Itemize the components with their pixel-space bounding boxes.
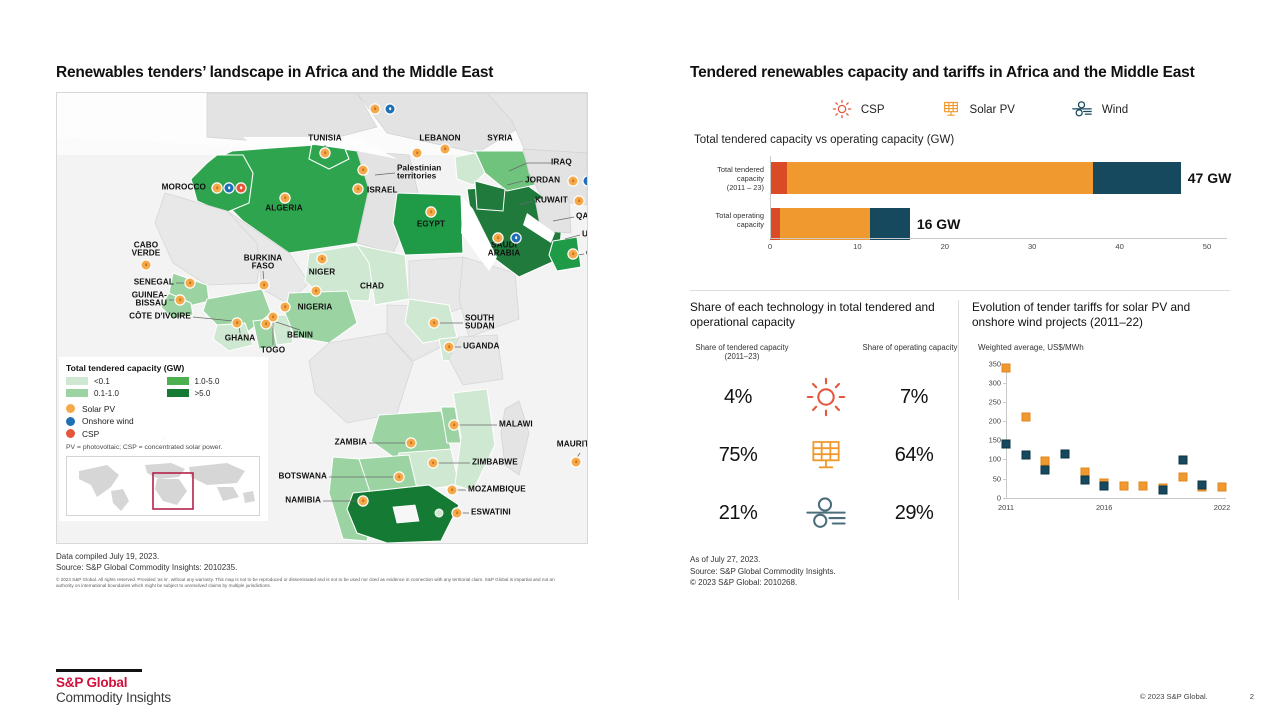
scatter-point-onshore-wind[interactable] [1060, 449, 1069, 458]
solar-pv-pin[interactable] [176, 295, 185, 304]
bar-segment-solar-pv[interactable] [780, 208, 870, 240]
onshore-wind-pin[interactable] [225, 183, 234, 192]
scatter-point-onshore-wind[interactable] [1080, 476, 1089, 485]
legend-marker-list: Solar PVOnshore windCSP [66, 404, 261, 439]
country-label-guinea-bissau: GUINEA- BISSAU [132, 291, 167, 308]
tariff-scatter-block: Evolution of tender tariffs for solar PV… [972, 300, 1230, 526]
country-label-niger: NIGER [309, 268, 335, 277]
country-label-israel: ISRAEL [367, 186, 398, 195]
legend-bin-0.1-1.0: 0.1-1.0 [66, 389, 161, 398]
country-label-togo: TOGO [261, 346, 285, 355]
country-label-mozambique: MOZAMBIQUE [468, 485, 526, 494]
scatter-subtitle: Weighted average, US$/MWh [978, 343, 1230, 352]
country-label-qatar: QATAR [576, 212, 588, 221]
scatter-point-onshore-wind[interactable] [1198, 481, 1207, 490]
legend-marker-wind: Onshore wind [66, 416, 261, 426]
solar-pv-pin[interactable] [260, 280, 269, 289]
solar-pv-pin[interactable] [142, 260, 151, 269]
solar-pv-pin[interactable] [430, 318, 439, 327]
technology-legend: CSP Solar PV Win [730, 99, 1230, 122]
share-operating-solar-pv: 64% [866, 444, 962, 467]
solar-pv-pin[interactable] [233, 318, 242, 327]
scatter-point-onshore-wind[interactable] [1178, 456, 1187, 465]
country-label-malawi: MALAWI [499, 420, 533, 429]
legend-item-csp[interactable]: CSP [832, 99, 885, 122]
legend-capacity-bins: <0.11.0-5.00.1-1.0>5.0 [66, 377, 261, 398]
solar-pv-pin[interactable] [427, 207, 436, 216]
legend-swatch [167, 389, 189, 397]
scatter-y-tick-150: 150 [989, 436, 1001, 445]
charts-panel-title: Tendered renewables capacity and tariffs… [690, 64, 1230, 83]
csp-pin[interactable] [237, 183, 246, 192]
scatter-point-solar-pv[interactable] [1002, 364, 1011, 373]
bar-x-axis [770, 238, 1227, 239]
map-panel: Renewables tenders’ landscape in Africa … [56, 64, 588, 589]
map-panel-title: Renewables tenders’ landscape in Africa … [56, 64, 588, 83]
solar-pv-pin[interactable] [359, 496, 368, 505]
solar-pv-pin[interactable] [318, 254, 327, 263]
map-source-block: Data compiled July 19, 2023. Source: S&P… [56, 551, 588, 590]
solar-pv-pin[interactable] [186, 278, 195, 287]
scatter-y-tickmark [1003, 402, 1006, 403]
map-disclaimer: © 2023 S&P Global. All rights reserved. … [56, 577, 556, 589]
charts-source-block: As of July 27, 2023. Source: S&P Global … [690, 554, 836, 589]
scatter-point-onshore-wind[interactable] [1021, 450, 1030, 459]
inset-world-svg [67, 457, 257, 513]
solar-pv-pin[interactable] [262, 319, 271, 328]
legend-bin--0.1: <0.1 [66, 377, 161, 386]
country-label-algeria: ALGERIA [265, 204, 303, 213]
bar-x-tick-20: 20 [941, 242, 949, 251]
solar-pv-pin[interactable] [494, 233, 503, 242]
solar-pv-pin[interactable] [371, 104, 380, 113]
charts-asof: As of July 27, 2023. [690, 554, 836, 566]
solar-pv-pin[interactable] [569, 249, 578, 258]
solar-pv-pin[interactable] [312, 286, 321, 295]
scatter-point-solar-pv[interactable] [1139, 482, 1148, 491]
legend-label-wind: Wind [1102, 104, 1128, 116]
country-label-uganda: UGANDA [463, 342, 500, 351]
scatter-title: Evolution of tender tariffs for solar PV… [972, 300, 1230, 331]
country-label-zambia: ZAMBIA [335, 438, 367, 447]
legend-bin-1.0-5.0: 1.0-5.0 [167, 377, 262, 386]
scatter-point-solar-pv[interactable] [1218, 483, 1227, 492]
country-label-oman: OMAN [586, 249, 588, 258]
legend-label-solar-pv: Solar PV [970, 104, 1015, 116]
page-number: 2 [1250, 692, 1254, 701]
scatter-point-onshore-wind[interactable] [1002, 439, 1011, 448]
country-label-jordan: JORDAN [525, 176, 560, 185]
share-operating-wind: 29% [866, 502, 962, 525]
legend-title: Total tendered capacity (GW) [66, 363, 261, 373]
share-column-heads: Share of tendered capacity (2011–23) Sha… [694, 343, 958, 362]
solar-pv-pin[interactable] [321, 148, 330, 157]
solar-pv-pin[interactable] [407, 438, 416, 447]
share-tendered-csp: 4% [690, 386, 786, 409]
legend-bin-label: >5.0 [195, 389, 211, 398]
bar-x-tick-30: 30 [1028, 242, 1036, 251]
share-tendered-wind: 21% [690, 502, 786, 525]
scatter-x-tick-2022: 2022 [1214, 503, 1230, 512]
country-label-c-te-d-ivoire: CÔTE D'IVOIRE [129, 312, 191, 321]
share-operating-csp: 7% [866, 386, 962, 409]
bar-category-line: Total tendered [692, 165, 764, 174]
share-tendered-solar-pv: 75% [690, 444, 786, 467]
country-label-nigeria: NIGERIA [298, 303, 333, 312]
scatter-y-tick-200: 200 [989, 417, 1001, 426]
solar-pv-pin[interactable] [213, 183, 222, 192]
section-divider [690, 290, 1230, 291]
csp-sun-icon [832, 99, 852, 122]
solar-pv-pin[interactable] [445, 342, 454, 351]
bar-x-tick-40: 40 [1115, 242, 1123, 251]
scatter-point-solar-pv[interactable] [1041, 456, 1050, 465]
charts-copyright: © 2023 S&P Global: 2010268. [690, 577, 836, 589]
country-label-palestinian-territories: Palestinian territories [397, 164, 441, 181]
solar-panel-icon [941, 99, 961, 122]
country-label-kuwait: KUWAIT [535, 196, 568, 205]
legend-marker-label: Solar PV [82, 404, 115, 414]
logo-commodity-insights: Commodity Insights [56, 690, 171, 706]
solar-pv-pin[interactable] [395, 472, 404, 481]
bar-x-tick-0: 0 [768, 242, 772, 251]
onshore-wind-pin[interactable] [512, 233, 521, 242]
scatter-point-onshore-wind[interactable] [1159, 485, 1168, 494]
country-label-lebanon: LEBANON [419, 134, 460, 143]
country-label-uae: UAE [582, 230, 588, 239]
onshore-wind-pin [66, 417, 75, 426]
africa-middle-east-map[interactable]: TUNISIALEBANONSYRIAIRAQMOROCCOPalestinia… [56, 92, 588, 544]
legend-bin-label: 0.1-1.0 [94, 389, 119, 398]
share-head-operating: Share of operating capacity [862, 343, 958, 362]
legend-marker-pv: Solar PV [66, 404, 261, 414]
share-head-tendered: Share of tendered capacity (2011–23) [694, 343, 790, 362]
csp-pin [66, 429, 75, 438]
bar-y-axis [770, 156, 771, 238]
solar-pv-pin[interactable] [281, 302, 290, 311]
capacity-bar-chart[interactable]: Total tenderedcapacity(2011 – 23)47 GWTo… [690, 152, 1230, 262]
charts-source-line: Source: S&P Global Commodity Insights. [690, 566, 836, 578]
bar-segment-solar-pv[interactable] [787, 162, 1094, 194]
world-inset-map [66, 456, 260, 516]
logo-sp-global: S&P Global [56, 675, 171, 691]
sp-global-logo: S&P Global Commodity Insights [56, 669, 171, 706]
country-label-chad: CHAD [360, 282, 384, 291]
legend-marker-label: CSP [82, 429, 99, 439]
scatter-y-axis [1006, 364, 1007, 498]
legend-bin--5.0: >5.0 [167, 389, 262, 398]
scatter-point-solar-pv[interactable] [1080, 467, 1089, 476]
country-label-botswana: BOTSWANA [278, 472, 327, 481]
country-label-tunisia: TUNISIA [308, 134, 341, 143]
legend-footnote: PV = photovoltaic; CSP = concentrated so… [66, 444, 261, 452]
scatter-x-tick-2011: 2011 [998, 503, 1014, 512]
solar-pv-pin[interactable] [441, 144, 450, 153]
country-label-senegal: SENEGAL [134, 278, 174, 287]
country-label-south-sudan: SOUTH SUDAN [465, 314, 495, 331]
country-label-ghana: GHANA [225, 334, 256, 343]
country-label-burkina-faso: BURKINA FASO [244, 254, 282, 271]
scatter-point-solar-pv[interactable] [1119, 482, 1128, 491]
bar-segment-csp[interactable] [770, 162, 787, 194]
technology-share-block: Share of each technology in total tender… [690, 300, 962, 542]
scatter-x-axis [1006, 498, 1226, 499]
legend-swatch [66, 377, 88, 385]
map-source-line: Source: S&P Global Commodity Insights: 2… [56, 562, 588, 574]
legend-swatch [66, 389, 88, 397]
bar-category-line: capacity [692, 174, 764, 183]
onshore-wind-pin[interactable] [584, 176, 589, 185]
bar-segment-wind[interactable] [1093, 162, 1180, 194]
legend-bin-label: 1.0-5.0 [195, 377, 220, 386]
scatter-y-tickmark [1003, 498, 1006, 499]
country-label-namibia: NAMIBIA [285, 496, 321, 505]
legend-item-solar-pv[interactable]: Solar PV [941, 99, 1015, 122]
scatter-y-tick-350: 350 [989, 359, 1001, 368]
scatter-x-tick-2016: 2016 [1096, 503, 1112, 512]
scatter-point-solar-pv[interactable] [1021, 413, 1030, 422]
legend-marker-csp: CSP [66, 429, 261, 439]
bar-category-label-0: Total tenderedcapacity(2011 – 23) [692, 165, 764, 192]
solar-pv-pin[interactable] [413, 148, 422, 157]
bar-category-label-1: Total operatingcapacity [692, 211, 764, 229]
solar-pv-pin[interactable] [569, 176, 578, 185]
country-label-zimbabwe: ZIMBABWE [472, 458, 518, 467]
country-label-egypt: EGYPT [417, 220, 445, 229]
share-title: Share of each technology in total tender… [690, 300, 962, 331]
scatter-point-solar-pv[interactable] [1178, 473, 1187, 482]
solar-pv-pin[interactable] [448, 485, 457, 494]
country-label-mauritius: MAURITIUS [557, 440, 588, 449]
country-label-eswatini: ESWATINI [471, 508, 511, 517]
scatter-point-onshore-wind[interactable] [1100, 482, 1109, 491]
footer-copyright: © 2023 S&P Global. [1140, 692, 1208, 701]
solar-pv-pin[interactable] [354, 184, 363, 193]
scatter-y-tickmark [1003, 383, 1006, 384]
solar-pv-pin[interactable] [575, 196, 584, 205]
map-data-compiled: Data compiled July 19, 2023. [56, 551, 588, 563]
bar-segment-wind[interactable] [870, 208, 910, 240]
country-label-cabo-verde: CABO VERDE [132, 241, 161, 258]
bar-category-line: (2011 – 23) [692, 183, 764, 192]
country-label-saudi-arabia: SAUDI ARABIA [488, 241, 520, 258]
csp-sun-icon [800, 376, 852, 418]
share-row-solar-pv: 75% 64% [690, 426, 962, 484]
scatter-y-tick-250: 250 [989, 397, 1001, 406]
legend-marker-label: Onshore wind [82, 416, 134, 426]
solar-pv-pin[interactable] [572, 457, 581, 466]
bar-x-tick-50: 50 [1203, 242, 1211, 251]
share-row-wind: 21% 29% [690, 484, 962, 542]
legend-label-csp: CSP [861, 104, 885, 116]
country-label-morocco: MOROCCO [162, 183, 206, 192]
bar-category-line: capacity [692, 220, 764, 229]
share-row-csp: 4% 7% [690, 368, 962, 426]
solar-pv-pin[interactable] [450, 420, 459, 429]
solar-pv-pin[interactable] [359, 165, 368, 174]
country-label-benin: BENIN [287, 331, 313, 340]
solar-pv-pin[interactable] [269, 312, 278, 321]
legend-bin-label: <0.1 [94, 377, 110, 386]
wind-icon [1071, 99, 1093, 122]
bar-category-line: Total operating [692, 211, 764, 220]
bar-x-tick-10: 10 [853, 242, 861, 251]
scatter-y-tickmark [1003, 479, 1006, 480]
scatter-y-tick-50: 50 [993, 474, 1001, 483]
solar-pv-pin[interactable] [453, 508, 462, 517]
country-label-syria: SYRIA [487, 134, 513, 143]
bar-total-label-0: 47 GW [1188, 170, 1232, 186]
bar-chart-title: Total tendered capacity vs operating cap… [694, 134, 1230, 146]
scatter-y-tick-300: 300 [989, 378, 1001, 387]
bar-total-label-1: 16 GW [917, 216, 961, 232]
charts-panel: Tendered renewables capacity and tariffs… [690, 64, 1230, 262]
tariff-scatter-chart[interactable]: 050100150200250300350201120162022 [972, 356, 1228, 526]
legend-swatch [167, 377, 189, 385]
scatter-point-onshore-wind[interactable] [1041, 465, 1050, 474]
page-footer: © 2023 S&P Global. 2 [1140, 692, 1254, 701]
solar-panel-icon [800, 434, 852, 476]
scatter-y-tick-100: 100 [989, 455, 1001, 464]
solar-pv-pin[interactable] [281, 193, 290, 202]
map-legend: Total tendered capacity (GW) <0.11.0-5.0… [59, 357, 268, 521]
scatter-y-tickmark [1003, 459, 1006, 460]
solar-pv-pin[interactable] [429, 458, 438, 467]
legend-item-wind[interactable]: Wind [1071, 99, 1128, 122]
scatter-y-tick-0: 0 [997, 493, 1001, 502]
logo-rule [56, 669, 142, 672]
bar-segment-csp[interactable] [770, 208, 780, 240]
wind-icon [800, 492, 852, 534]
solar-pv-pin [66, 404, 75, 413]
country-label-iraq: IRAQ [551, 158, 572, 167]
scatter-y-tickmark [1003, 421, 1006, 422]
onshore-wind-pin[interactable] [386, 104, 395, 113]
